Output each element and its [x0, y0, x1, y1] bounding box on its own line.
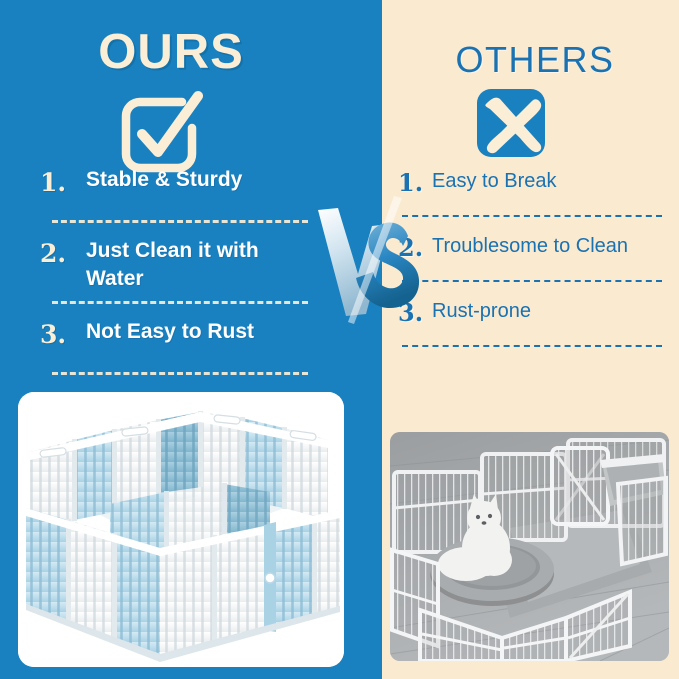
list-divider: [402, 345, 662, 347]
ours-title: OURS: [0, 24, 342, 80]
list-item: 1. Stable & Sturdy: [40, 166, 318, 212]
list-item-number: 2.: [40, 237, 86, 271]
list-item: 3. Not Easy to Rust: [40, 318, 318, 364]
list-item: 2. Just Clean it with Water: [40, 237, 318, 293]
list-item: 3. Rust-prone: [398, 298, 666, 338]
others-product-photo: [390, 432, 669, 661]
list-item-label: Stable & Sturdy: [86, 166, 318, 194]
list-item-label: Easy to Break: [432, 168, 666, 195]
others-feature-list: 1. Easy to Break 2. Troublesome to Clean…: [398, 168, 666, 363]
list-item-label: Not Easy to Rust: [86, 318, 318, 346]
list-item-label: Rust-prone: [432, 298, 666, 325]
list-item-number: 1.: [398, 168, 432, 198]
list-divider: [402, 280, 662, 282]
list-item-number: 3.: [40, 318, 86, 352]
list-item: 1. Easy to Break: [398, 168, 666, 208]
list-item-label: Troublesome to Clean: [432, 233, 666, 260]
ours-product-photo: [18, 392, 344, 667]
list-item-number: 1.: [40, 166, 86, 200]
list-divider: [52, 301, 308, 304]
x-mark-icon: [470, 82, 552, 164]
comparison-infographic: OURS 1. Stable & Sturdy 2. Just Clean it…: [0, 0, 679, 679]
list-item-number: 3.: [398, 298, 432, 328]
list-item-number: 2.: [398, 233, 432, 263]
checkbox-check-icon: [114, 84, 206, 176]
list-item: 2. Troublesome to Clean: [398, 233, 666, 273]
list-divider: [402, 215, 662, 217]
list-divider: [52, 372, 308, 375]
list-divider: [52, 220, 308, 223]
list-item-label: Just Clean it with Water: [86, 237, 318, 293]
ours-feature-list: 1. Stable & Sturdy 2. Just Clean it with…: [40, 166, 318, 389]
others-title: OTHERS: [400, 38, 670, 82]
